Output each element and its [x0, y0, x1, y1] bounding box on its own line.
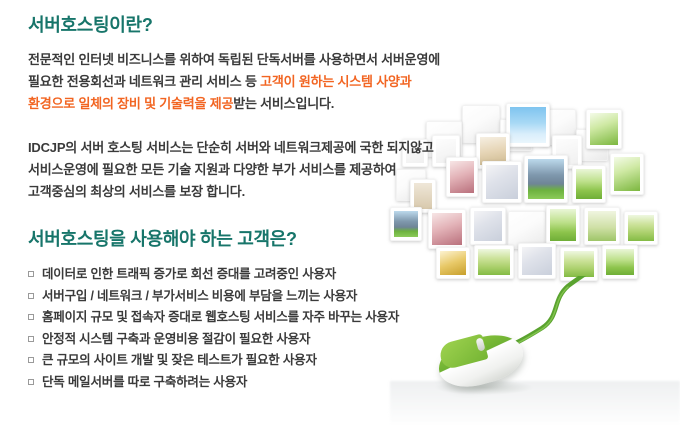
photo-face-grass — [602, 245, 638, 279]
paragraph-line: 환경으로 일체의 장비 및 기술력을 제공받는 서비스입니다. — [28, 93, 458, 115]
photo-face-map — [518, 243, 556, 279]
photo-face-wood — [584, 207, 620, 245]
photo-face-fence — [624, 211, 658, 245]
photo-face-map — [482, 161, 522, 203]
bullet-square-icon — [28, 379, 34, 385]
list-item: 데이터로 인한 트래픽 증가로 회선 증대를 고려중인 사용자 — [28, 264, 468, 286]
bullet-square-icon — [28, 357, 34, 363]
paragraph-line: 고객중심의 최상의 서비스를 보장 합니다. — [28, 181, 458, 203]
paragraph-line: 서비스운영에 필요한 모든 기술 지원과 다양한 부가 서비스를 제공하여 — [28, 159, 458, 181]
photo-face-city — [524, 155, 568, 203]
list-item: 서버구입 / 네트워크 / 부가서비스 비용에 부담을 느끼는 사용자 — [28, 286, 468, 308]
photo-face-grass — [572, 165, 606, 203]
paragraph-line: 전문적인 인터넷 비즈니스를 위하여 독립된 단독서버를 사용하면서 서버운영에 — [28, 49, 458, 71]
list-item: 안정적 시스템 구축과 운영비용 절감이 필요한 사용자 — [28, 329, 468, 351]
hosting-info-page: 서버호스팅이란? 전문적인 인터넷 비즈니스를 위하여 독립된 단독서버를 사용… — [0, 0, 680, 425]
bullet-square-icon — [28, 336, 34, 342]
photo-face-sky — [506, 103, 550, 147]
paragraph-idcjp-service: IDCJP의 서버 호스팅 서비스는 단순히 서버와 네트워크제공에 국한 되지… — [28, 137, 458, 203]
photo-face-leaf — [610, 153, 644, 195]
bullet-square-icon — [28, 271, 34, 277]
paragraph-line: IDCJP의 서버 호스팅 서비스는 단순히 서버와 네트워크제공에 국한 되지… — [28, 137, 458, 159]
target-customer-list: 데이터로 인한 트래픽 증가로 회선 증대를 고려중인 사용자 서버구입 / 네… — [28, 264, 468, 393]
section-one: 서버호스팅이란? 전문적인 인터넷 비즈니스를 위하여 독립된 단독서버를 사용… — [28, 0, 458, 203]
paragraph-hosting-definition: 전문적인 인터넷 비즈니스를 위하여 독립된 단독서버를 사용하면서 서버운영에… — [28, 49, 458, 115]
list-item: 단독 메일서버를 따로 구축하려는 사용자 — [28, 372, 468, 394]
page-title-hosting-definition: 서버호스팅이란? — [28, 14, 458, 36]
page-title-target-customers: 서버호스팅을 사용해야 하는 고객은? — [28, 228, 468, 250]
paragraph-line: 필요한 전용회선과 네트워크 관리 서비스 등 고객이 원하는 시스템 사양과 — [28, 71, 458, 93]
photo-face-map — [470, 207, 506, 245]
list-item: 큰 규모의 사이트 개발 및 잦은 테스트가 필요한 사용자 — [28, 350, 468, 372]
photo-face-fence — [474, 245, 514, 279]
bullet-square-icon — [28, 314, 34, 320]
bullet-square-icon — [28, 293, 34, 299]
photo-face-grass — [546, 205, 580, 245]
photo-face-leaf — [586, 109, 622, 149]
section-two: 서버호스팅을 사용해야 하는 고객은? 데이터로 인한 트래픽 증가로 회선 증… — [28, 228, 468, 393]
list-item: 홈페이지 규모 및 접속자 증대로 웹호스팅 서비스를 자주 바꾸는 사용자 — [28, 307, 468, 329]
